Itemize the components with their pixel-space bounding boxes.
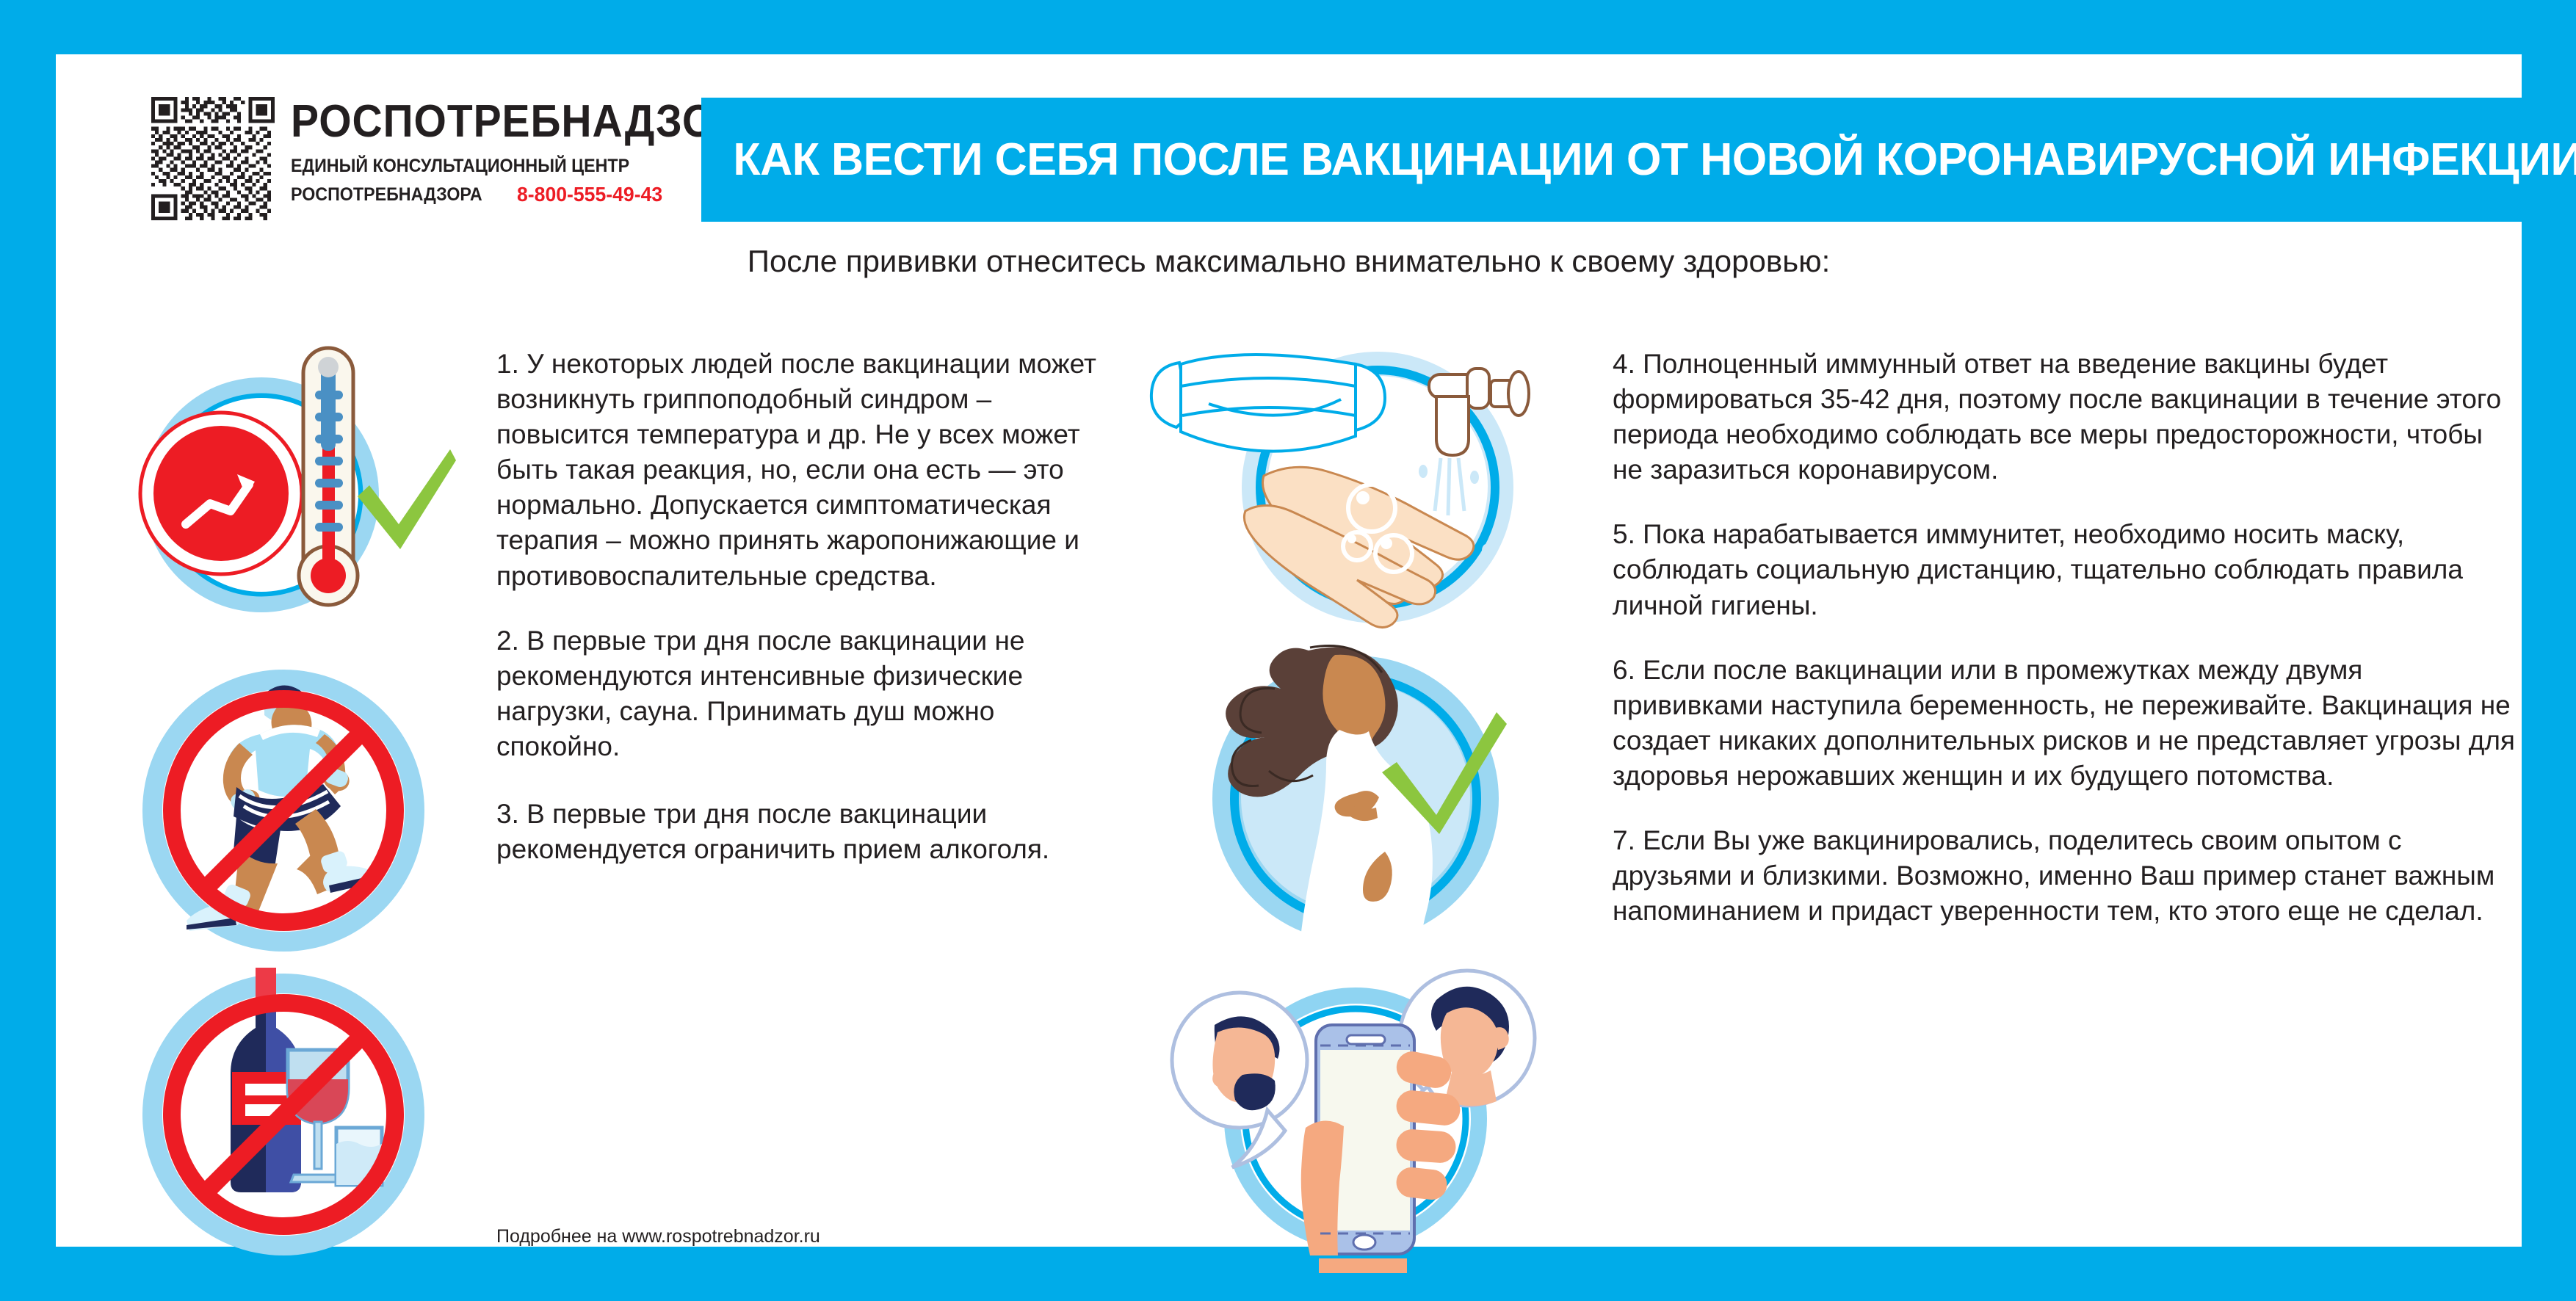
hotline-phone-number[interactable]: 8-800-555-49-43 [517,183,662,206]
advice-item-7: 7. Если Вы уже вакцинировались, поделите… [1613,823,2516,929]
no-running-icon [137,664,430,957]
poster-card: РОСПОТРЕБНАДЗОР ЕДИНЫЙ КОНСУЛЬТАЦИОННЫЙ … [56,54,2522,1247]
brand-subtitle-line2: РОСПОТРЕБНАДЗОРА [291,184,482,206]
title-banner: КАК ВЕСТИ СЕБЯ ПОСЛЕ ВАКЦИНАЦИИ ОТ НОВОЙ… [701,98,2522,222]
right-text-column: 4. Полноценный иммунный ответ на введени… [1613,347,2516,958]
left-icon-column [78,341,489,1261]
advice-item-1: 1. У некоторых людей после вакцинации мо… [496,347,1106,594]
advice-item-3: 3. В первые три дня после вакцинации рек… [496,797,1106,867]
left-text-column: 1. У некоторых людей после вакцинации мо… [496,347,1106,896]
brand-block: РОСПОТРЕБНАДЗОР ЕДИНЫЙ КОНСУЛЬТАЦИОННЫЙ … [103,79,698,226]
footnote-more-info[interactable]: Подробнее на www.rospotrebnadzor.ru [496,1226,820,1247]
advice-item-2: 2. В первые три дня после вакцинации не … [496,623,1106,764]
phone-sharing-icon [1135,957,1576,1273]
middle-icon-column [1113,319,1598,1273]
mask-handwashing-icon [1135,319,1576,642]
advice-item-5: 5. Пока нарабатывается иммунитет, необхо… [1613,517,2516,623]
poster-root: РОСПОТРЕБНАДЗОР ЕДИНЫЙ КОНСУЛЬТАЦИОННЫЙ … [0,0,2576,1301]
brand-name: РОСПОТРЕБНАДЗОР [291,95,744,148]
page-title: КАК ВЕСТИ СЕБЯ ПОСЛЕ ВАКЦИНАЦИИ ОТ НОВОЙ… [701,134,2576,186]
advice-item-6: 6. Если после вакцинации или в промежутк… [1613,653,2516,794]
brand-subtitle-line1: ЕДИНЫЙ КОНСУЛЬТАЦИОННЫЙ ЦЕНТР [291,156,629,177]
qr-code-icon [151,97,275,220]
advice-item-4: 4. Полноценный иммунный ответ на введени… [1613,347,2516,488]
pregnant-woman-icon [1165,637,1546,960]
thermometer-fever-icon [111,341,456,649]
page-subtitle: После прививки отнеситесь максимально вн… [56,244,2522,279]
no-alcohol-icon [137,968,430,1261]
